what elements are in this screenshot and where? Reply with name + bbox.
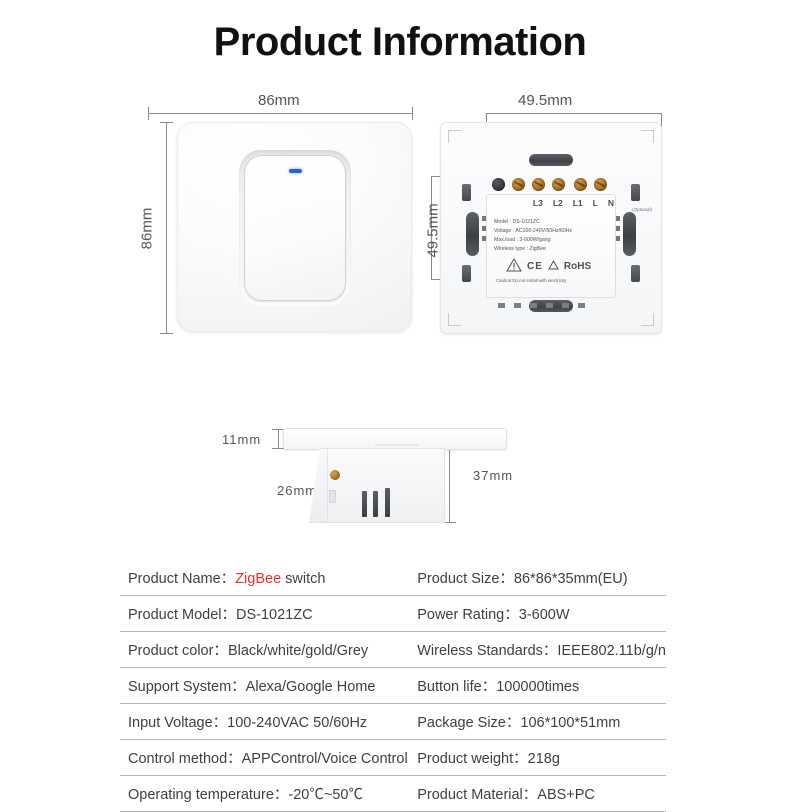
- spec-cell-product-weight: Product weight：218g: [409, 740, 666, 776]
- switch-front-illustration: [177, 122, 412, 332]
- pin-contact: [514, 303, 521, 308]
- corner-bracket-bottom-right: [641, 313, 654, 326]
- side-terminal-screw: [330, 470, 340, 480]
- back-height-label: 49.5mm: [425, 196, 442, 266]
- spec-cell-support-system: Support System：Alexa/Google Home: [120, 668, 409, 704]
- pin-contact: [546, 303, 553, 308]
- spec-value: -20℃~50℃: [288, 787, 363, 803]
- module-spec-voltage: Voltage : AC100-240V/50Hz/60Hz: [494, 227, 572, 236]
- table-row: Product Name：ZigBee switch Product Size：…: [120, 560, 666, 596]
- spec-label: Product Material：: [417, 787, 537, 803]
- spec-table-body: Product Name：ZigBee switch Product Size：…: [120, 560, 666, 812]
- spec-cell-product-model: Product Model：DS-1021ZC: [120, 596, 409, 632]
- table-row: Input Voltage：100-240VAC 50/60Hz Package…: [120, 704, 666, 740]
- terminal-label-n: N: [608, 198, 614, 208]
- spec-cell-power-rating: Power Rating：3-600W: [409, 596, 666, 632]
- corner-bracket-bottom-left: [448, 313, 461, 326]
- pin-contact: [530, 303, 537, 308]
- terminal-screw-l: [574, 178, 587, 191]
- table-row: Product color：Black/white/gold/Grey Wire…: [120, 632, 666, 668]
- terminal-labels: L3 L2 L1 L N: [486, 198, 620, 208]
- side-vent-slot-3: [385, 488, 390, 517]
- terminal-label-l1: L1: [573, 198, 583, 208]
- spec-label: Product weight：: [417, 751, 527, 767]
- table-row: Control method：APPControl/Voice Control …: [120, 740, 666, 776]
- pin-contact-row: [498, 303, 585, 308]
- spec-label: Package Size：: [417, 715, 520, 731]
- terminal-label-l2: L2: [553, 198, 563, 208]
- module-spec-lines: Model : DS-1021ZC Voltage : AC100-240V/5…: [494, 218, 572, 254]
- spec-value: 100000times: [496, 679, 579, 695]
- table-row: Operating temperature：-20℃~50℃ Product M…: [120, 776, 666, 812]
- spec-label: Product Name：: [128, 571, 235, 587]
- spec-value: switch: [281, 571, 325, 587]
- spec-label: Control method：: [128, 751, 242, 767]
- terminal-screw-l2: [532, 178, 545, 191]
- mount-slot-bottom-right: [631, 265, 640, 282]
- mount-slot-center-right: [623, 212, 636, 256]
- front-width-dimension-line: [148, 113, 413, 114]
- terminal-optional-note: (Optional): [632, 208, 652, 213]
- back-width-dimension-line: [486, 113, 662, 114]
- table-row: Support System：Alexa/Google Home Button …: [120, 668, 666, 704]
- module-spec-wireless: Wireless type : ZigBee: [494, 245, 572, 254]
- spec-cell-operating-temperature: Operating temperature：-20℃~50℃: [120, 776, 409, 812]
- terminal-screw-row: [486, 174, 614, 196]
- spec-value: 3-600W: [519, 607, 570, 623]
- spec-value: ABS+PC: [537, 787, 595, 803]
- front-height-tick-top: [160, 122, 173, 123]
- product-spec-table: Product Name：ZigBee switch Product Size：…: [120, 560, 666, 812]
- terminal-label-l3: L3: [533, 198, 543, 208]
- spec-cell-wireless-standards: Wireless Standards：IEEE802.11b/g/n: [409, 632, 666, 668]
- spec-label: Power Rating：: [417, 607, 519, 623]
- spec-value: 86*86*35mm(EU): [514, 571, 628, 587]
- spec-value: APPControl/Voice Control: [242, 751, 408, 767]
- spec-value: DS-1021ZC: [236, 607, 313, 623]
- spec-label: Wireless Standards：: [417, 643, 557, 659]
- front-width-label: 86mm: [258, 92, 300, 109]
- spec-label: Support System：: [128, 679, 246, 695]
- module-spec-model: Model : DS-1021ZC: [494, 218, 572, 227]
- spec-value-accent: ZigBee: [235, 571, 281, 587]
- back-width-label: 49.5mm: [518, 92, 572, 109]
- page-title: Product Information: [0, 20, 800, 65]
- pin-contact: [562, 303, 569, 308]
- spec-label: Product color：: [128, 643, 228, 659]
- ce-mark-icon: CE: [527, 261, 543, 272]
- spec-label: Operating temperature：: [128, 787, 288, 803]
- spec-cell-package-size: Package Size：106*100*51mm: [409, 704, 666, 740]
- switch-side-illustration: [283, 428, 505, 524]
- caution-note: Caution:Do not install with electricity: [496, 278, 566, 283]
- corner-bracket-top-right: [641, 130, 654, 143]
- spec-cell-product-color: Product color：Black/white/gold/Grey: [120, 632, 409, 668]
- terminal-screw-n: [594, 178, 607, 191]
- rohs-mark-icon: RoHS: [564, 261, 591, 272]
- pin-contact: [578, 303, 585, 308]
- spec-cell-input-voltage: Input Voltage：100-240VAC 50/60Hz: [120, 704, 409, 740]
- house-mark-icon: [548, 260, 559, 273]
- spec-value: Black/white/gold/Grey: [228, 643, 368, 659]
- terminal-screw-l3: [512, 178, 525, 191]
- certification-row: CE RoHS: [506, 258, 591, 275]
- front-height-label: 86mm: [139, 199, 156, 259]
- status-led-indicator: [289, 169, 302, 173]
- side-vent-slot-2: [373, 491, 378, 517]
- spec-label: Button life：: [417, 679, 496, 695]
- side-vent-slot-1: [362, 491, 367, 517]
- spec-cell-product-name: Product Name：ZigBee switch: [120, 560, 409, 596]
- side-body-tab: [329, 490, 336, 503]
- spec-cell-control-method: Control method：APPControl/Voice Control: [120, 740, 409, 776]
- front-height-dimension-line: [166, 122, 167, 334]
- spec-label: Product Size：: [417, 571, 514, 587]
- front-width-tick-right: [412, 107, 413, 120]
- mount-slot-top-left: [462, 184, 471, 201]
- front-height-tick-bottom: [160, 333, 173, 334]
- table-row: Product Model：DS-1021ZC Power Rating：3-6…: [120, 596, 666, 632]
- side-faceplate-groove: [375, 444, 419, 446]
- front-width-tick-left: [148, 107, 149, 120]
- terminal-screw-l1: [552, 178, 565, 191]
- mount-slot-center-left: [466, 212, 479, 256]
- spec-cell-product-size: Product Size：86*86*35mm(EU): [409, 560, 666, 596]
- spec-value: 218g: [528, 751, 560, 767]
- terminal-label-l: L: [593, 198, 598, 208]
- mount-slot-top-right: [631, 184, 640, 201]
- rocker-button[interactable]: [244, 155, 346, 301]
- mount-slot-bottom-left: [462, 265, 471, 282]
- side-faceplate: [283, 428, 507, 450]
- side-thickness-dimension-line: [278, 429, 279, 449]
- spec-value: 106*100*51mm: [520, 715, 620, 731]
- switch-back-illustration: L3 L2 L1 L N (Optional) Model : DS-1021Z…: [440, 122, 662, 334]
- rocker-recess: [239, 150, 351, 306]
- terminal-screw-blank: [492, 178, 505, 191]
- spec-cell-button-life: Button life：100000times: [409, 668, 666, 704]
- mounting-claw-top: [529, 154, 573, 166]
- spec-cell-product-material: Product Material：ABS+PC: [409, 776, 666, 812]
- module-spec-maxload: Max.load : 3-600W/gang: [494, 236, 572, 245]
- warning-triangle-icon: [506, 258, 522, 275]
- corner-bracket-top-left: [448, 130, 461, 143]
- side-thickness-label: 11mm: [222, 432, 261, 447]
- pin-contact: [498, 303, 505, 308]
- spec-label: Product Model：: [128, 607, 236, 623]
- spec-value: 100-240VAC 50/60Hz: [227, 715, 367, 731]
- spec-label: Input Voltage：: [128, 715, 227, 731]
- spec-value: Alexa/Google Home: [246, 679, 376, 695]
- spec-value: IEEE802.11b/g/n: [557, 643, 666, 659]
